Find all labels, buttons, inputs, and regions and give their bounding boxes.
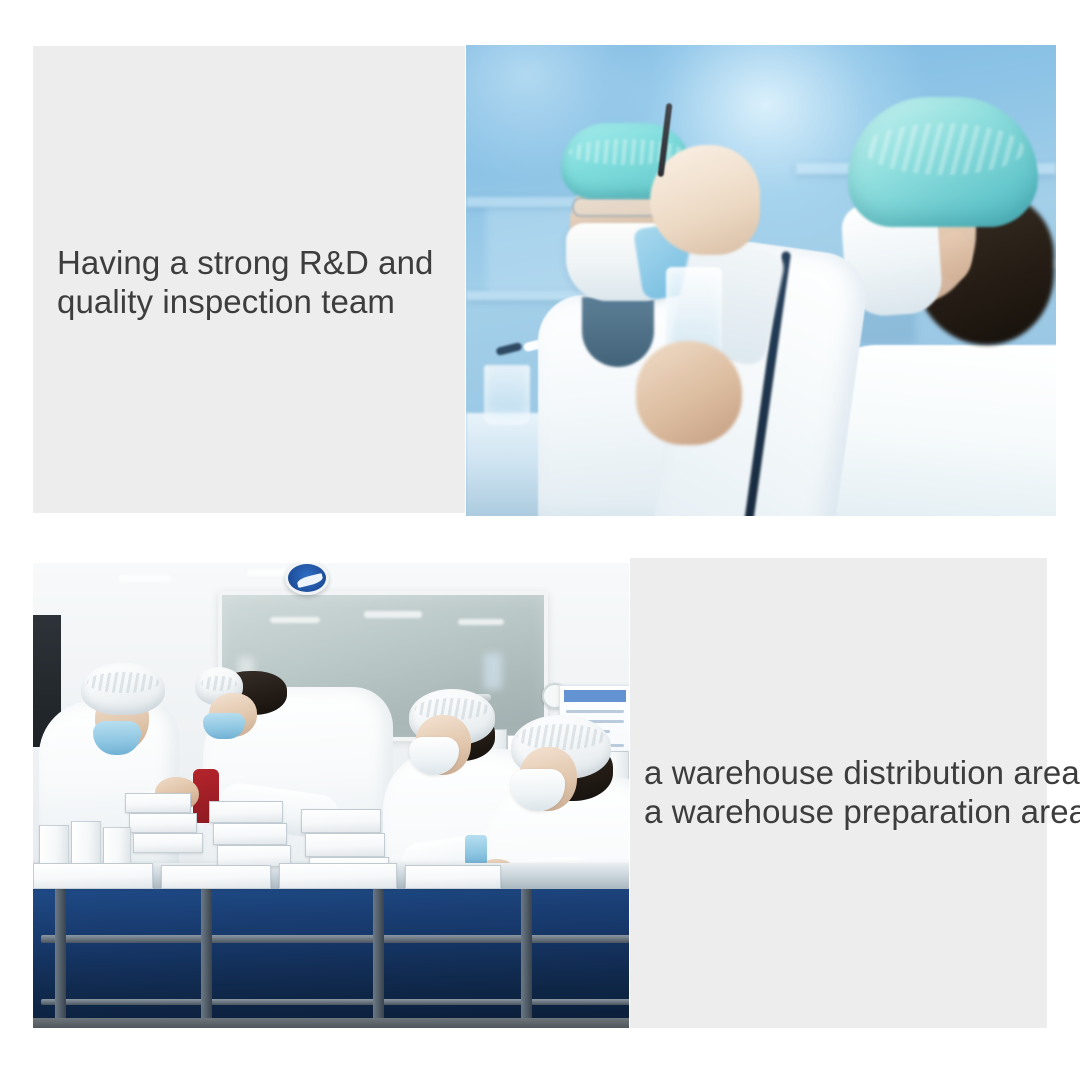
carton-front-4 [405,865,501,889]
carton-5 [213,823,287,845]
table-leg-2 [201,889,212,1027]
window-dispenser [484,653,502,689]
technician-hand-upper [650,145,760,255]
floor-strip [33,1018,629,1028]
worker-1-hairnet [81,663,165,715]
technician-right-surgical-cap [848,97,1038,227]
poster-header [564,690,626,702]
top-caption: Having a strong R&D and quality inspecti… [57,243,434,321]
carton-8 [305,833,385,857]
top-caption-line-1: Having a strong R&D and [57,243,434,282]
poster-line-1 [566,710,624,713]
bottom-caption-line-2: a warehouse preparation area [644,792,1080,831]
carton-front-3 [279,863,397,889]
table-leg-4 [521,889,532,1027]
blue-label-item [465,835,487,865]
table-under-shadow [33,889,629,1028]
technician-hand-lower [636,341,742,445]
carton-4 [209,801,283,823]
collage-page: Having a strong R&D and quality inspecti… [0,0,1080,1080]
lab-inspection-photo [466,45,1056,516]
window-light-3 [458,619,504,625]
ceiling-light-1 [119,575,171,582]
worker-2-mask [203,713,245,739]
table-leg-3 [373,889,384,1027]
warehouse-packing-photo [33,563,629,1028]
carton-front-2 [161,865,271,889]
carton-1 [125,793,191,813]
carton-3 [133,833,203,853]
bottom-caption: a warehouse distribution area a warehous… [644,753,1080,831]
carton-front-1 [33,863,153,889]
bottom-caption-line-1: a warehouse distribution area [644,753,1080,792]
table-rail-lower [41,999,629,1005]
top-caption-line-2: quality inspection team [57,282,434,321]
lab-beaker [484,365,530,425]
technician-right-ear [936,231,972,281]
window-light-1 [270,617,320,623]
table-rail-upper [41,935,629,943]
carton-7 [301,809,381,833]
window-light-2 [364,611,422,618]
carton-2 [129,813,197,833]
table-leg-1 [55,889,66,1027]
technician-left-collar [582,297,654,367]
